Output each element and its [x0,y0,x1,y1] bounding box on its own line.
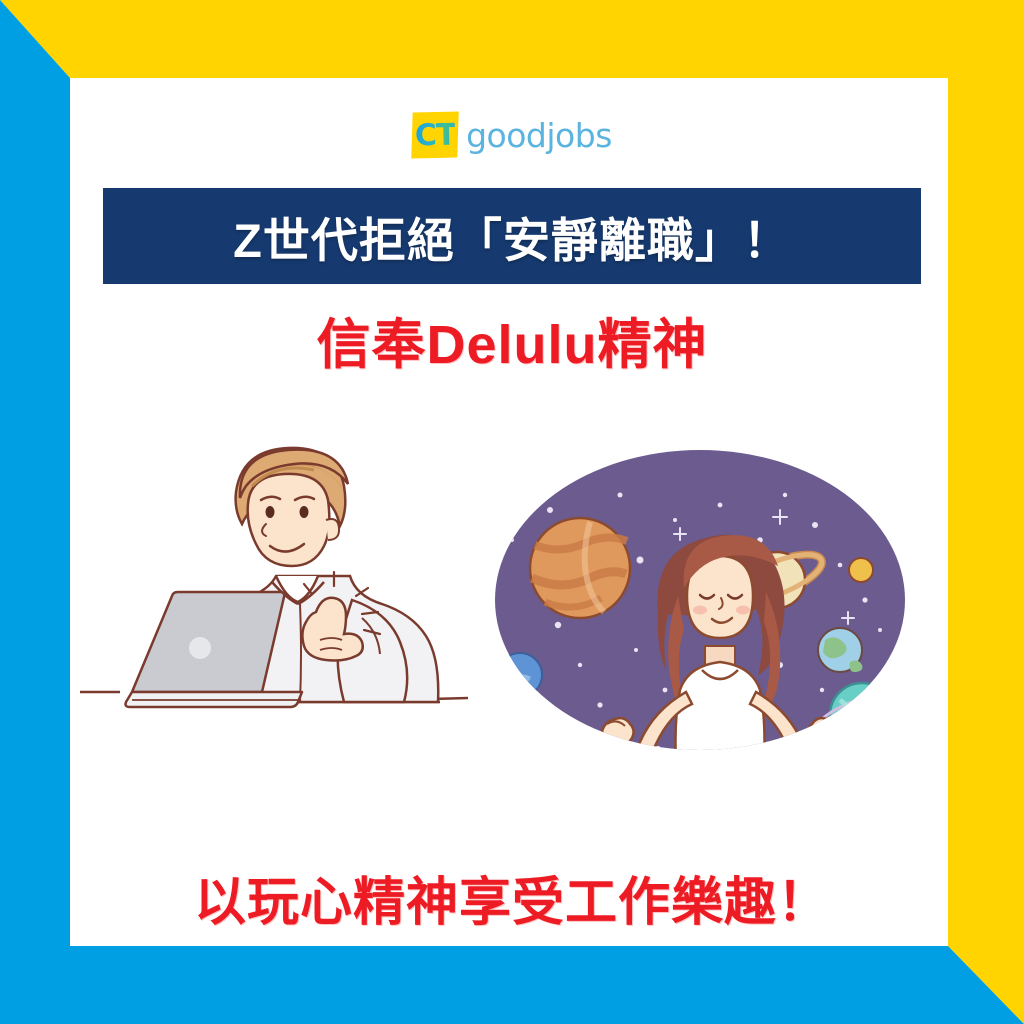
illustration [80,400,950,840]
brand-logo: CT goodjobs [0,112,1024,158]
planet-earth [818,628,862,672]
man-at-laptop-scene [80,448,468,707]
planet-small-yellow [849,558,873,582]
ct-logo-mark-text: CT [414,117,455,153]
planet-blue [498,653,542,697]
man-head [236,448,348,566]
subtitle-text: 信奉Delulu精神 [0,300,1024,379]
caption-text: 以玩心精神享受工作樂趣！ [0,860,1024,935]
headline-text: Z世代拒絕「安靜離職」！ [233,202,791,271]
goodjobs-wordmark: goodjobs [466,116,612,155]
poster-canvas: CT goodjobs Z世代拒絕「安靜離職」！ 信奉Delulu精神 [0,0,1024,1024]
planet-jupiter [530,518,630,618]
space-scene [495,450,912,784]
headline-banner: Z世代拒絕「安靜離職」！ [103,188,921,284]
ct-logo-mark: CT [411,112,458,159]
